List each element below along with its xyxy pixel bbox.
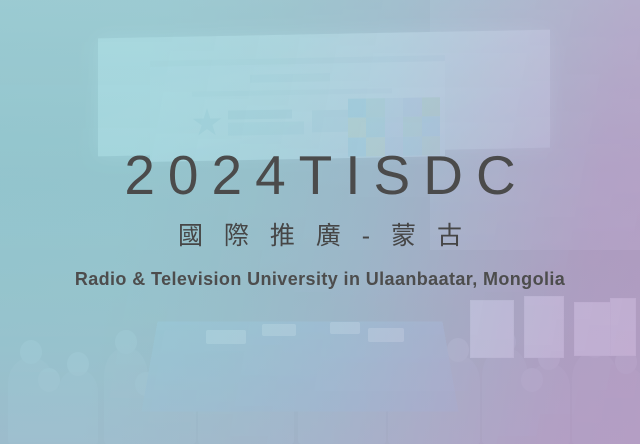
- banner-main-title: 2024TISDC: [111, 148, 528, 203]
- banner-content: 2024TISDC 國 際 推 廣 - 蒙 古 Radio & Televisi…: [0, 0, 640, 444]
- banner-subtitle-english: Radio & Television University in Ulaanba…: [75, 269, 565, 291]
- banner-subtitle-chinese: 國 際 推 廣 - 蒙 古: [171, 221, 469, 251]
- event-banner: 2024TISDC 國 際 推 廣 - 蒙 古 Radio & Televisi…: [0, 0, 640, 444]
